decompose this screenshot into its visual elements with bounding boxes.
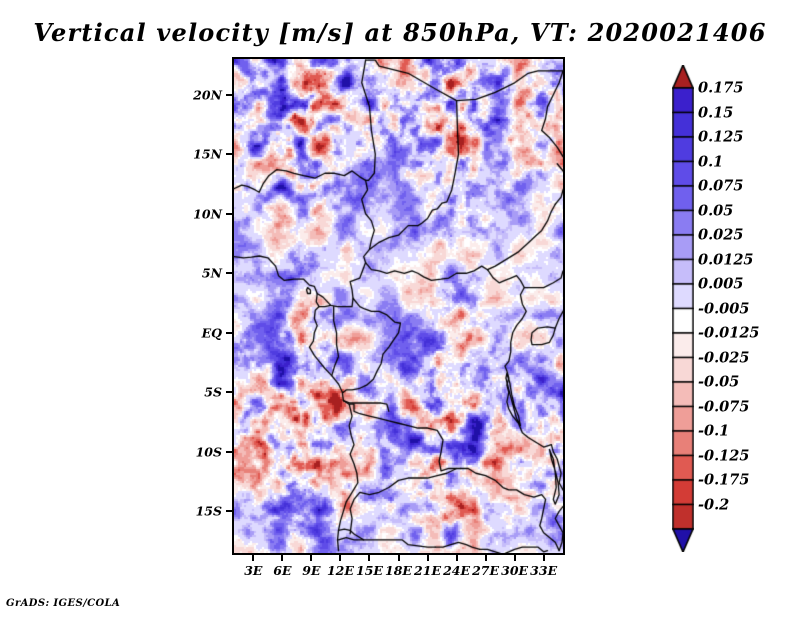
colorbar-tick-label: 0.175 [698, 80, 743, 97]
x-axis-tick [485, 555, 487, 561]
colorbar-tick-label: -0.075 [698, 398, 749, 415]
y-axis-tick-label: 5N [170, 266, 222, 281]
y-axis-tick [226, 510, 232, 512]
colorbar-gradient [672, 65, 694, 552]
x-axis-tick-label: 24E [443, 563, 470, 578]
x-axis-tick [398, 555, 400, 561]
x-axis-tick-label: 18E [385, 563, 412, 578]
y-axis-tick [226, 391, 232, 393]
y-axis-tick-label: 10S [170, 444, 222, 459]
colorbar-tick-label: 0.075 [698, 178, 743, 195]
colorbar-tick-label: 0.005 [698, 276, 743, 293]
y-axis-tick-label: 5S [170, 385, 222, 400]
colorbar-tick-label: 0.15 [698, 104, 733, 121]
y-axis-tick [226, 213, 232, 215]
country-borders-overlay [234, 59, 563, 553]
colorbar-tick-label: -0.1 [698, 423, 729, 440]
colorbar-tick-label: 0.025 [698, 227, 743, 244]
x-axis-tick-label: 27E [472, 563, 499, 578]
x-axis-tick [368, 555, 370, 561]
x-axis-tick [252, 555, 254, 561]
colorbar-tick-label: -0.05 [698, 374, 739, 391]
y-axis-tick [226, 94, 232, 96]
y-axis-tick-label: EQ [170, 325, 222, 340]
x-axis-tick [427, 555, 429, 561]
colorbar-tick-label: 0.1 [698, 153, 723, 170]
y-axis-tick [226, 153, 232, 155]
colorbar-tick-label: -0.005 [698, 300, 749, 317]
x-axis-tick-label: 6E [273, 563, 291, 578]
x-axis-tick-label: 15E [356, 563, 383, 578]
map-plot-area [232, 57, 565, 555]
colorbar-tick-label: 0.05 [698, 202, 733, 219]
x-axis-tick-label: 33E [530, 563, 557, 578]
x-axis-tick-label: 9E [302, 563, 320, 578]
colorbar-tick-label: -0.2 [698, 496, 729, 513]
x-axis-tick [310, 555, 312, 561]
colorbar [672, 65, 694, 552]
x-axis-tick-label: 12E [327, 563, 354, 578]
grads-credit: GrADS: IGES/COLA [6, 598, 120, 609]
colorbar-tick-label: 0.0125 [698, 251, 754, 268]
y-axis-tick-label: 15N [170, 147, 222, 162]
y-axis-tick [226, 332, 232, 334]
colorbar-tick-label: -0.0125 [698, 325, 760, 342]
x-axis-tick-label: 21E [414, 563, 441, 578]
y-axis-tick [226, 451, 232, 453]
page-title: Vertical velocity [m/s] at 850hPa, VT: 2… [0, 18, 800, 47]
x-axis-tick [339, 555, 341, 561]
colorbar-tick-label: 0.125 [698, 129, 743, 146]
colorbar-tick-label: -0.025 [698, 349, 749, 366]
x-axis-tick [456, 555, 458, 561]
x-axis-tick-label: 3E [244, 563, 262, 578]
y-axis-tick [226, 272, 232, 274]
x-axis-tick [514, 555, 516, 561]
x-axis-tick [281, 555, 283, 561]
x-axis-tick [543, 555, 545, 561]
y-axis-tick-label: 10N [170, 206, 222, 221]
colorbar-tick-label: -0.125 [698, 447, 749, 464]
y-axis-tick-label: 15S [170, 504, 222, 519]
colorbar-tick-label: -0.175 [698, 472, 749, 489]
y-axis-tick-label: 20N [170, 87, 222, 102]
x-axis-tick-label: 30E [501, 563, 528, 578]
